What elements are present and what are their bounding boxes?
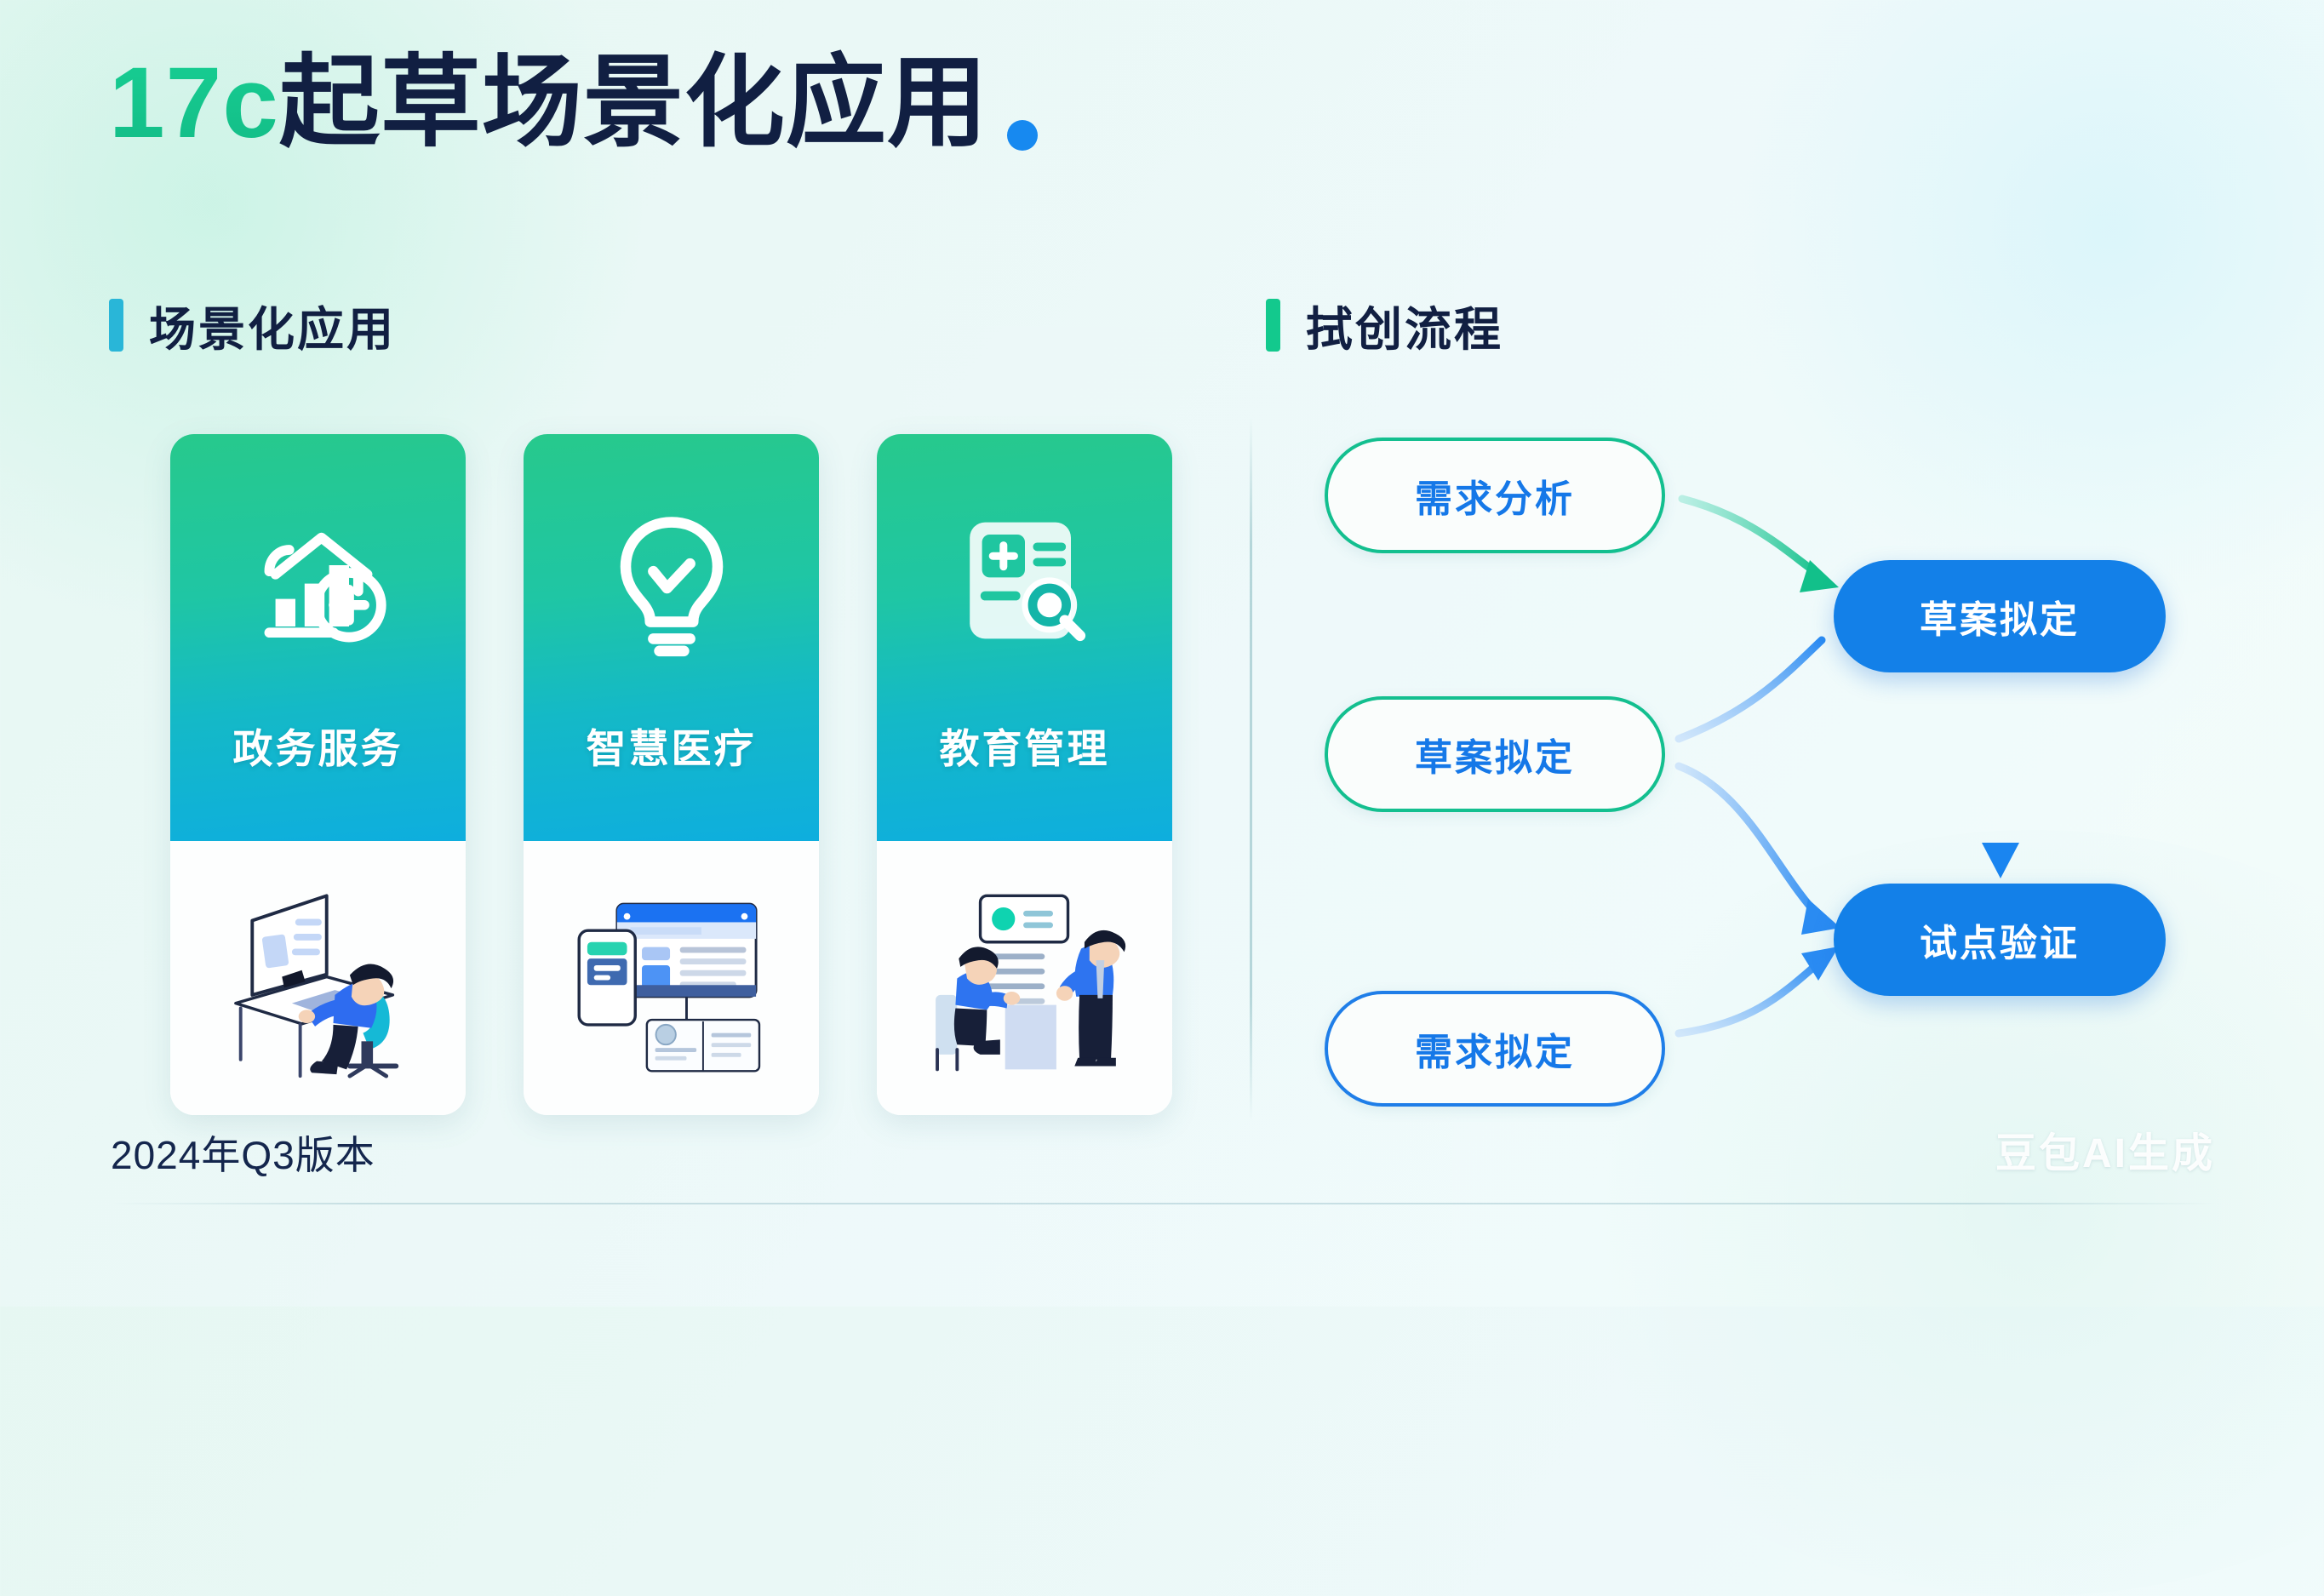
flow-node-label: 需求分析 xyxy=(1415,468,1575,523)
flow-node-label: 需求拟定 xyxy=(1415,1021,1575,1076)
section-bar-icon xyxy=(1266,299,1280,352)
section-bar-icon xyxy=(109,299,123,352)
scenario-card-list: 政务服务 xyxy=(170,434,1172,1115)
scenario-card[interactable]: 智慧医疗 xyxy=(524,434,819,1115)
card-title: 智慧医疗 xyxy=(524,716,819,775)
page-title: 17c起草场景化应用 xyxy=(109,44,1038,163)
card-title: 教育管理 xyxy=(877,716,1172,775)
flow-node-req-analysis[interactable]: 需求分析 xyxy=(1325,438,1665,553)
section-label: 场景化应用 xyxy=(149,291,396,359)
accent-dot-icon xyxy=(1007,120,1038,151)
devices-dashboard-illustration xyxy=(524,841,819,1115)
two-people-meeting-illustration xyxy=(877,841,1172,1115)
flow-node-req-draft[interactable]: 需求拟定 xyxy=(1325,991,1665,1107)
lightbulb-check-icon xyxy=(595,504,748,657)
title-main: 起草场景化应用 xyxy=(279,44,988,163)
house-chart-plus-icon xyxy=(242,504,395,657)
flow-node-label: 草案拟定 xyxy=(1920,589,2080,644)
scenario-card[interactable]: 政务服务 xyxy=(170,434,466,1115)
section-header-process: 拭创流程 xyxy=(1266,291,1503,359)
card-header: 教育管理 xyxy=(877,434,1172,841)
watermark-label: 豆包AI生成 xyxy=(1995,1119,2215,1179)
section-header-scenarios: 场景化应用 xyxy=(109,291,396,359)
card-title: 政务服务 xyxy=(170,716,466,775)
card-header: 政务服务 xyxy=(170,434,466,841)
section-divider xyxy=(1250,417,1252,1122)
version-label: 2024年Q3版本 xyxy=(111,1124,375,1181)
flow-node-label: 草案拟定 xyxy=(1415,727,1575,781)
footer-divider xyxy=(109,1203,2218,1204)
scenario-card[interactable]: 教育管理 xyxy=(877,434,1172,1115)
process-flow-diagram: 需求分析 草案拟定 需求拟定 草案拟定 试点验证 xyxy=(1311,417,2213,1132)
person-at-desk-illustration xyxy=(170,841,466,1115)
title-prefix: 17c xyxy=(109,44,279,163)
section-label: 拭创流程 xyxy=(1306,291,1503,359)
flow-node-draft-left[interactable]: 草案拟定 xyxy=(1325,696,1665,812)
calculator-search-icon xyxy=(948,504,1102,657)
flow-node-label: 试点验证 xyxy=(1920,912,2080,967)
flow-node-pilot[interactable]: 试点验证 xyxy=(1834,884,2166,996)
flow-node-draft-right[interactable]: 草案拟定 xyxy=(1834,560,2166,672)
card-header: 智慧医疗 xyxy=(524,434,819,841)
